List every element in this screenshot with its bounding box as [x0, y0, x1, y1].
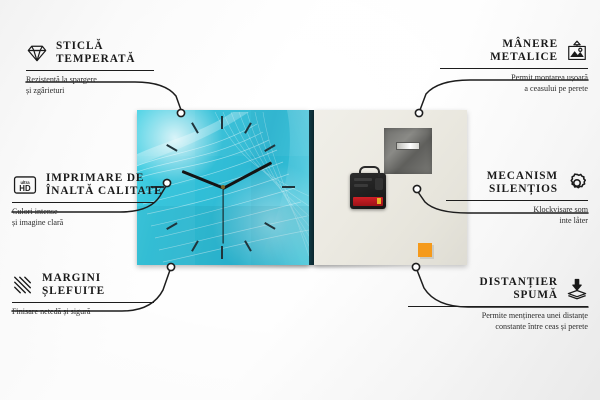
callout-subtitle-line1: Rezistentă la spargere	[26, 75, 154, 86]
callout-rule	[12, 302, 154, 303]
callout-subtitle-line2: și imagine clară	[12, 218, 154, 229]
ultra-hd-icon: ultra HD	[12, 174, 38, 196]
foam-spacer	[418, 243, 432, 257]
callout-subtitle-line2: constante între ceas și perete	[408, 322, 588, 333]
callout-title-line2: TEMPERATĂ	[56, 53, 135, 66]
callout-subtitle-line2: a ceasului pe perete	[440, 84, 588, 95]
callout-subtitle-line2: inte låter	[446, 216, 588, 227]
clock-front-view	[137, 110, 309, 265]
callout-imprimare-hd: ultra HD IMPRIMARE DE ÎNALTĂ CALITATE Cu…	[12, 172, 154, 228]
callout-title-line2: SPUMĂ	[480, 289, 558, 302]
battery-terminal	[377, 198, 381, 204]
callout-subtitle-line1: Permite menținerea unei distanțe	[408, 311, 588, 322]
callout-manere-metalice: MÂNERE METALICE Permit montarea ușoară a…	[440, 38, 588, 94]
callout-title-line1: DISTANȚIER	[480, 276, 558, 289]
callout-header: STICLĂ TEMPERATĂ	[26, 40, 154, 67]
callout-title-line1: MÂNERE	[490, 38, 558, 51]
callout-rule	[26, 70, 154, 71]
callout-subtitle-line1: Culori intense	[12, 207, 154, 218]
ultra-hd-icon-main-text: HD	[19, 184, 31, 193]
quartz-mechanism	[350, 173, 386, 209]
mechanism-loop	[359, 166, 380, 177]
callout-subtitle-line1: Permit montarea ușoară	[440, 73, 588, 84]
callout-title-line1: MECANISM	[487, 170, 558, 183]
gear-icon	[566, 172, 588, 194]
picture-hanging-icon	[566, 40, 588, 62]
infographic-canvas: STICLĂ TEMPERATĂ Rezistentă la spargere …	[0, 0, 600, 400]
callout-header: DISTANȚIER SPUMĂ	[408, 276, 588, 303]
clock-pivot	[221, 185, 225, 189]
callout-margini-slefuite: MARGINI ȘLEFUITE Finisare netedă și sigu…	[12, 272, 154, 318]
callout-rule	[408, 306, 588, 307]
callout-sticla-temperata: STICLĂ TEMPERATĂ Rezistentă la spargere …	[26, 40, 154, 96]
callout-rule	[446, 200, 588, 201]
clock-second-hand	[222, 188, 223, 244]
product-photo	[137, 110, 467, 268]
callout-header: ultra HD IMPRIMARE DE ÎNALTĂ CALITATE	[12, 172, 154, 199]
mechanism-ridge	[354, 184, 368, 187]
callout-title-line1: STICLĂ	[56, 40, 135, 53]
mechanism-knob	[375, 178, 383, 190]
metal-hanger	[384, 128, 432, 174]
battery	[353, 197, 383, 206]
callout-header: MARGINI ȘLEFUITE	[12, 272, 154, 299]
callout-mecanism-silentios: MECANISM SILENȚIOS Klockvisare som inte …	[446, 170, 588, 226]
callout-header: MECANISM SILENȚIOS	[446, 170, 588, 197]
callout-subtitle-line2: și zgârieturi	[26, 86, 154, 97]
callout-title-line2: METALICE	[490, 51, 558, 64]
callout-title-line1: IMPRIMARE DE	[46, 172, 163, 185]
clock-tick	[282, 186, 295, 188]
callout-title-line2: SILENȚIOS	[487, 183, 558, 196]
callout-subtitle-line1: Klockvisare som	[446, 205, 588, 216]
hanger-slot	[396, 142, 420, 150]
callout-title-line2: ÎNALTĂ CALITATE	[46, 185, 163, 198]
mechanism-ridge	[354, 178, 372, 181]
clock-back-view	[314, 110, 467, 265]
callout-subtitle-line1: Finisare netedă și sigură	[12, 307, 154, 318]
callout-rule	[12, 202, 154, 203]
diagonal-lines-icon	[12, 274, 34, 296]
clock-tick	[221, 246, 223, 259]
callout-title-line2: ȘLEFUITE	[42, 285, 105, 298]
diamond-icon	[26, 42, 48, 64]
callout-header: MÂNERE METALICE	[440, 38, 588, 65]
callout-distantier-spuma: DISTANȚIER SPUMĂ Permite menținerea unei…	[408, 276, 588, 332]
callout-rule	[440, 68, 588, 69]
clock-tick	[221, 116, 223, 129]
spacer-arrow-icon	[566, 278, 588, 300]
callout-title-line1: MARGINI	[42, 272, 105, 285]
